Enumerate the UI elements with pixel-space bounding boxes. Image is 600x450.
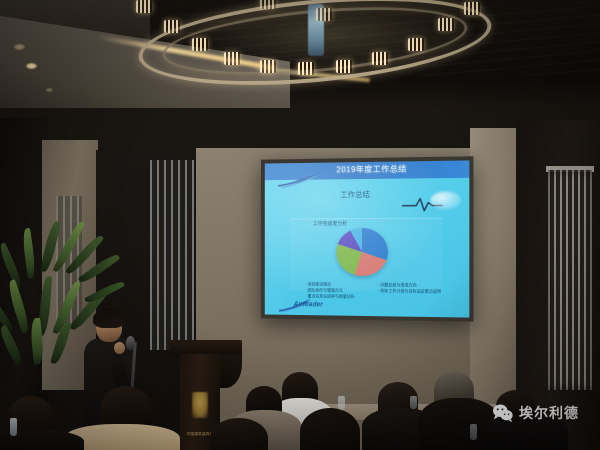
water-bottle xyxy=(10,418,17,436)
brand-swoosh-icon xyxy=(276,173,320,189)
vertical-blinds xyxy=(150,160,194,350)
chandelier-bulb-cluster xyxy=(192,38,208,51)
water-bottle xyxy=(338,396,345,410)
slide-title: 2019年度工作总结 xyxy=(336,163,406,175)
watermark: 埃尔利德 xyxy=(492,403,579,423)
lectern-emblem-icon xyxy=(192,392,208,418)
chandelier-bulb-cluster xyxy=(372,52,388,65)
chandelier-bulb-cluster xyxy=(260,0,276,9)
chandelier-bulb-cluster xyxy=(336,60,352,73)
chandelier-bulb-cluster xyxy=(136,0,152,13)
water-bottle xyxy=(410,396,417,409)
chandelier-bulb-cluster xyxy=(224,52,240,65)
chandelier-bulb-cluster xyxy=(464,2,480,15)
ceiling-spotlight xyxy=(46,88,53,92)
ceiling-spotlight xyxy=(26,63,37,69)
watermark-text: 埃尔利德 xyxy=(519,403,579,423)
footer-logo-text: Airleader xyxy=(294,301,323,308)
chandelier-bulb-cluster xyxy=(316,8,332,21)
pie-chart xyxy=(336,228,388,276)
presenter-hand xyxy=(114,342,125,354)
ring-chandelier xyxy=(120,0,500,89)
slide-bullets-right: · 问题总结与改进方向 · 明年工作计划与目标设定要点说明 xyxy=(378,282,441,295)
slide-subtitle: 工作总结 xyxy=(340,189,370,200)
chandelier-bulb-cluster xyxy=(260,60,276,73)
eyeglasses-icon xyxy=(97,324,122,330)
wechat-icon xyxy=(492,403,514,423)
audience-head-foreground xyxy=(210,418,268,450)
bullet-item: · 明年工作计划与目标设定要点说明 xyxy=(378,288,441,295)
plant-leaf xyxy=(21,228,37,279)
ecg-glow-blob xyxy=(430,191,461,210)
chandelier-bulb-cluster xyxy=(164,20,180,33)
slatted-divider-screen xyxy=(548,170,592,390)
projection-screen: 2019年度工作总结 工作总结 工作完成度分析 · 项目推进情况 · 团队协作与… xyxy=(265,160,470,317)
audience-head-foreground xyxy=(300,408,360,450)
chandelier-bulb-cluster xyxy=(438,18,454,31)
microphone-icon xyxy=(126,336,135,350)
lectern-side-wing xyxy=(218,354,242,388)
ceiling-spotlight xyxy=(14,44,25,50)
chart-caption: 工作完成度分析 xyxy=(313,220,347,227)
conference-photo-scene: 2019年度工作总结 工作总结 工作完成度分析 · 项目推进情况 · 团队协作与… xyxy=(0,0,600,450)
water-bottle xyxy=(470,424,477,440)
projection-screen-frame: 2019年度工作总结 工作总结 工作完成度分析 · 项目推进情况 · 团队协作与… xyxy=(261,156,473,321)
chandelier-bulb-cluster xyxy=(298,62,314,75)
chandelier-bulb-cluster xyxy=(408,38,424,51)
